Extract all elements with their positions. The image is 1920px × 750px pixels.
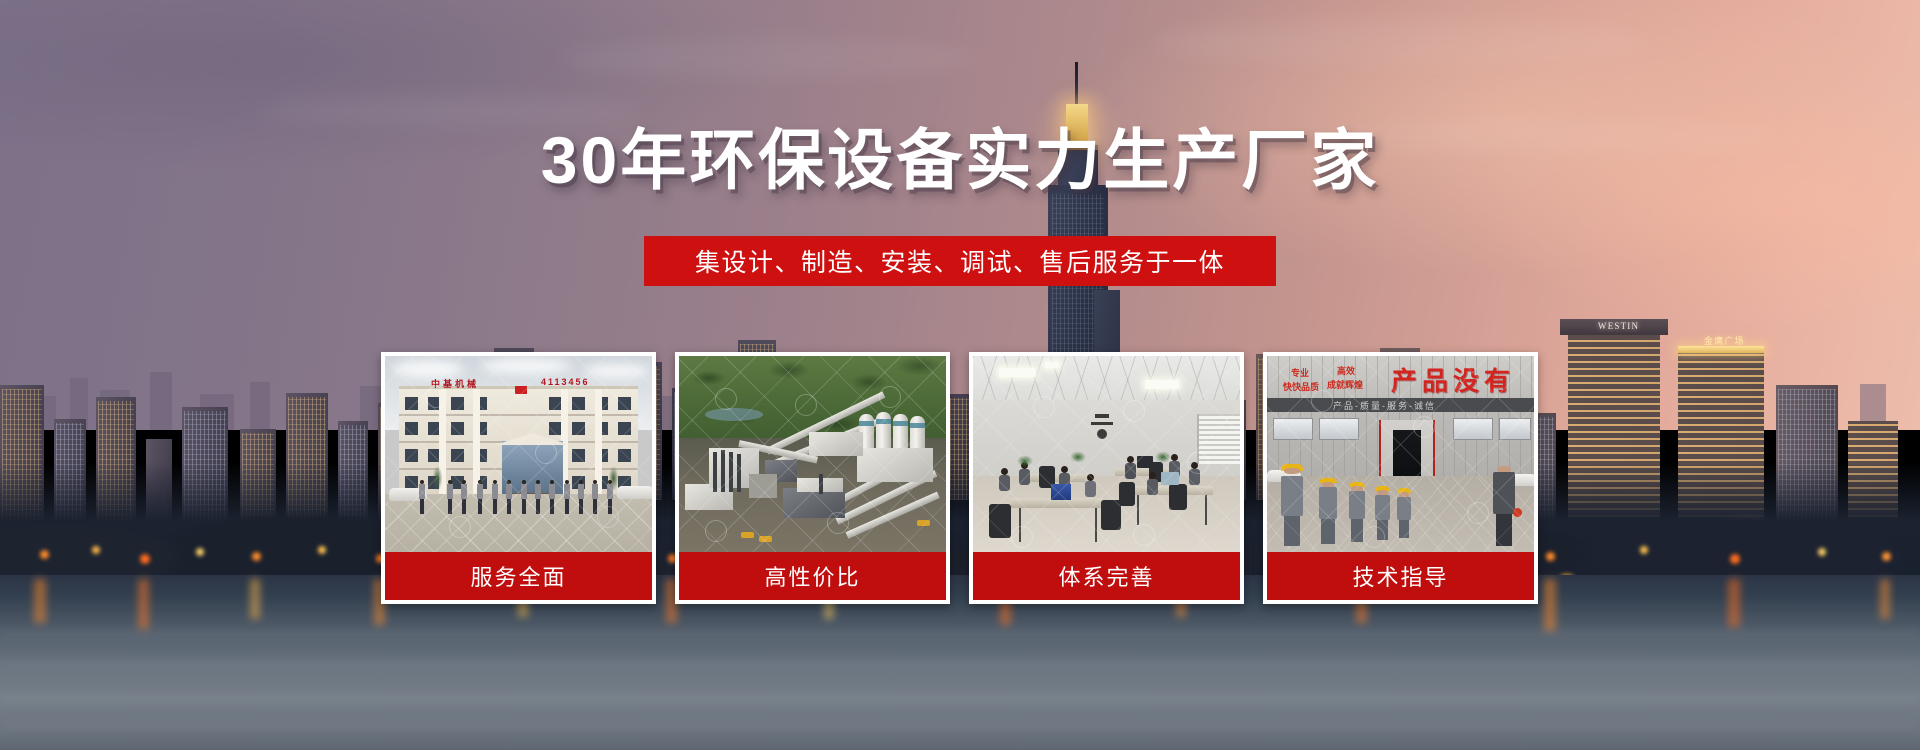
subtitle-banner: 集设计、制造、安装、调试、售后服务于一体 [644,236,1276,286]
page-title: 30年环保设备实力生产厂家 [0,122,1920,200]
feature-card-training[interactable]: 产品没有 专业 快快品质 高效 成就辉煌 产品-质量-服务-诚信 [1263,352,1538,604]
feature-card-row: 中基机械 4113456 [381,352,1539,604]
photo-office-interior [973,356,1240,552]
subtitle-text: 集设计、制造、安装、调试、售后服务于一体 [695,243,1225,279]
card-label: 高性价比 [679,552,946,600]
photo-headquarters-building: 中基机械 4113456 [385,356,652,552]
factory-small-sign-2: 高效 [1337,366,1355,377]
feature-card-system[interactable]: 体系完善 [969,352,1244,604]
feature-card-service[interactable]: 中基机械 4113456 [381,352,656,604]
factory-strip-sign: 产品-质量-服务-诚信 [1333,399,1436,412]
factory-big-sign: 产品没有 [1391,361,1515,398]
factory-small-sign-1: 专业 [1291,368,1309,379]
photo-factory-workers: 产品没有 专业 快快品质 高效 成就辉煌 产品-质量-服务-诚信 [1267,356,1534,552]
company-sign-text: 中基机械 [431,377,479,390]
hero-banner: WESTIN 金鹰广场 [0,0,1920,750]
photo-industrial-plant-aerial [679,356,946,552]
company-phone-text: 4113456 [541,377,590,387]
cloud [560,38,980,78]
factory-small-sign-2b: 成就辉煌 [1327,380,1363,391]
card-label: 服务全面 [385,552,652,600]
plaza-signage: 金鹰广场 [1704,334,1745,347]
card-label: 技术指导 [1267,552,1534,600]
cloud [1150,20,1650,66]
wall-decal [1085,414,1119,444]
westin-signage: WESTIN [1598,321,1639,331]
factory-small-sign-1b: 快快品质 [1283,382,1319,393]
feature-card-value[interactable]: 高性价比 [675,352,950,604]
card-label: 体系完善 [973,552,1240,600]
